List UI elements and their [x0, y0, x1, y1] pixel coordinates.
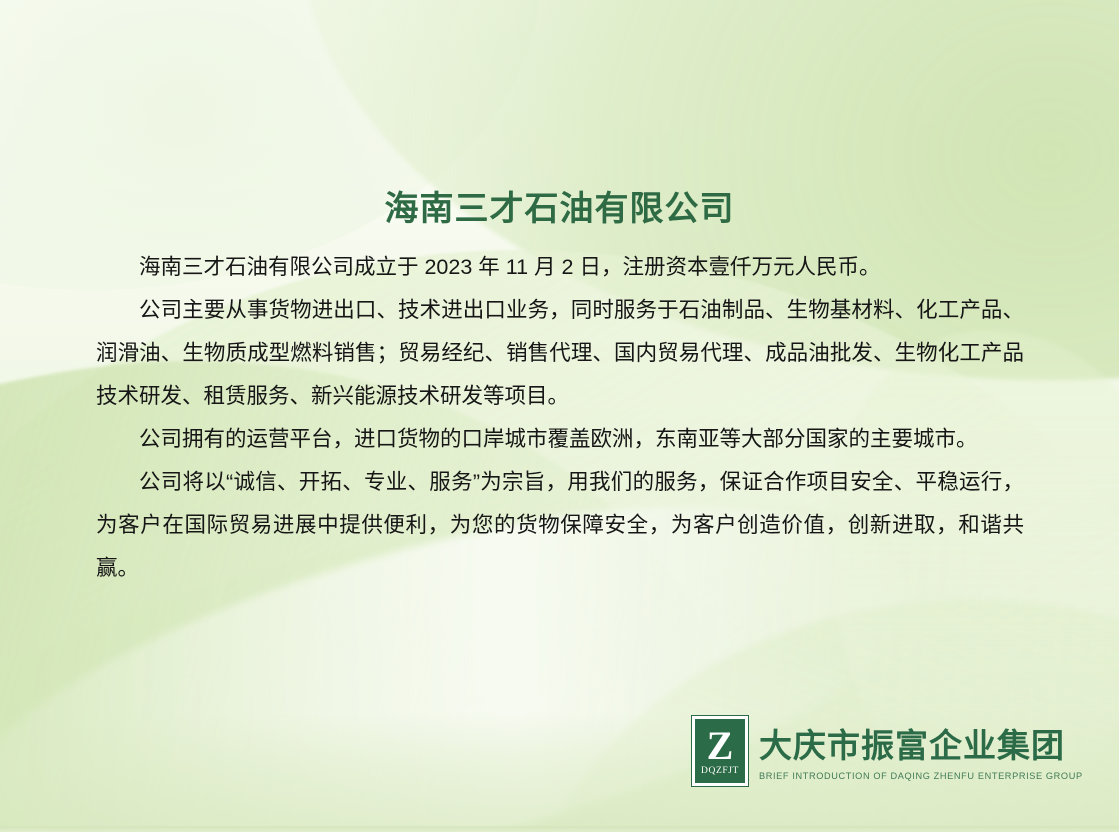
page-title: 海南三才石油有限公司 — [0, 181, 1119, 230]
logo-company-name-en: BRIEF INTRODUCTION OF DAQING ZHENFU ENTE… — [759, 769, 1083, 783]
slide-canvas: 海南三才石油有限公司 海南三才石油有限公司成立于 2023 年 11 月 2 日… — [0, 0, 1119, 832]
logo-wordmark: 大庆市振富企业集团 BRIEF INTRODUCTION OF DAQING Z… — [759, 716, 1083, 783]
slide-content: 海南三才石油有限公司 海南三才石油有限公司成立于 2023 年 11 月 2 日… — [0, 0, 1119, 832]
paragraph-business-scope: 公司主要从事货物进出口、技术进出口业务，同时服务于石油制品、生物基材料、化工产品… — [96, 289, 1024, 418]
body-text-block: 海南三才石油有限公司成立于 2023 年 11 月 2 日，注册资本壹仟万元人民… — [96, 246, 1024, 590]
paragraph-registration: 海南三才石油有限公司成立于 2023 年 11 月 2 日，注册资本壹仟万元人民… — [96, 246, 1024, 289]
logo-emblem-icon: Z DQZFJT — [692, 716, 748, 786]
paragraph-mission: 公司将以“诚信、开拓、专业、服务”为宗旨，用我们的服务，保证合作项目安全、平稳运… — [96, 461, 1024, 590]
logo-company-name-cn: 大庆市振富企业集团 — [759, 725, 1083, 767]
logo-abbreviation: DQZFJT — [701, 766, 739, 777]
company-logo: Z DQZFJT 大庆市振富企业集团 BRIEF INTRODUCTION OF… — [692, 716, 1083, 786]
logo-letter-z: Z — [707, 727, 734, 765]
paragraph-platform-coverage: 公司拥有的运营平台，进口货物的口岸城市覆盖欧洲，东南亚等大部分国家的主要城市。 — [96, 418, 1024, 461]
